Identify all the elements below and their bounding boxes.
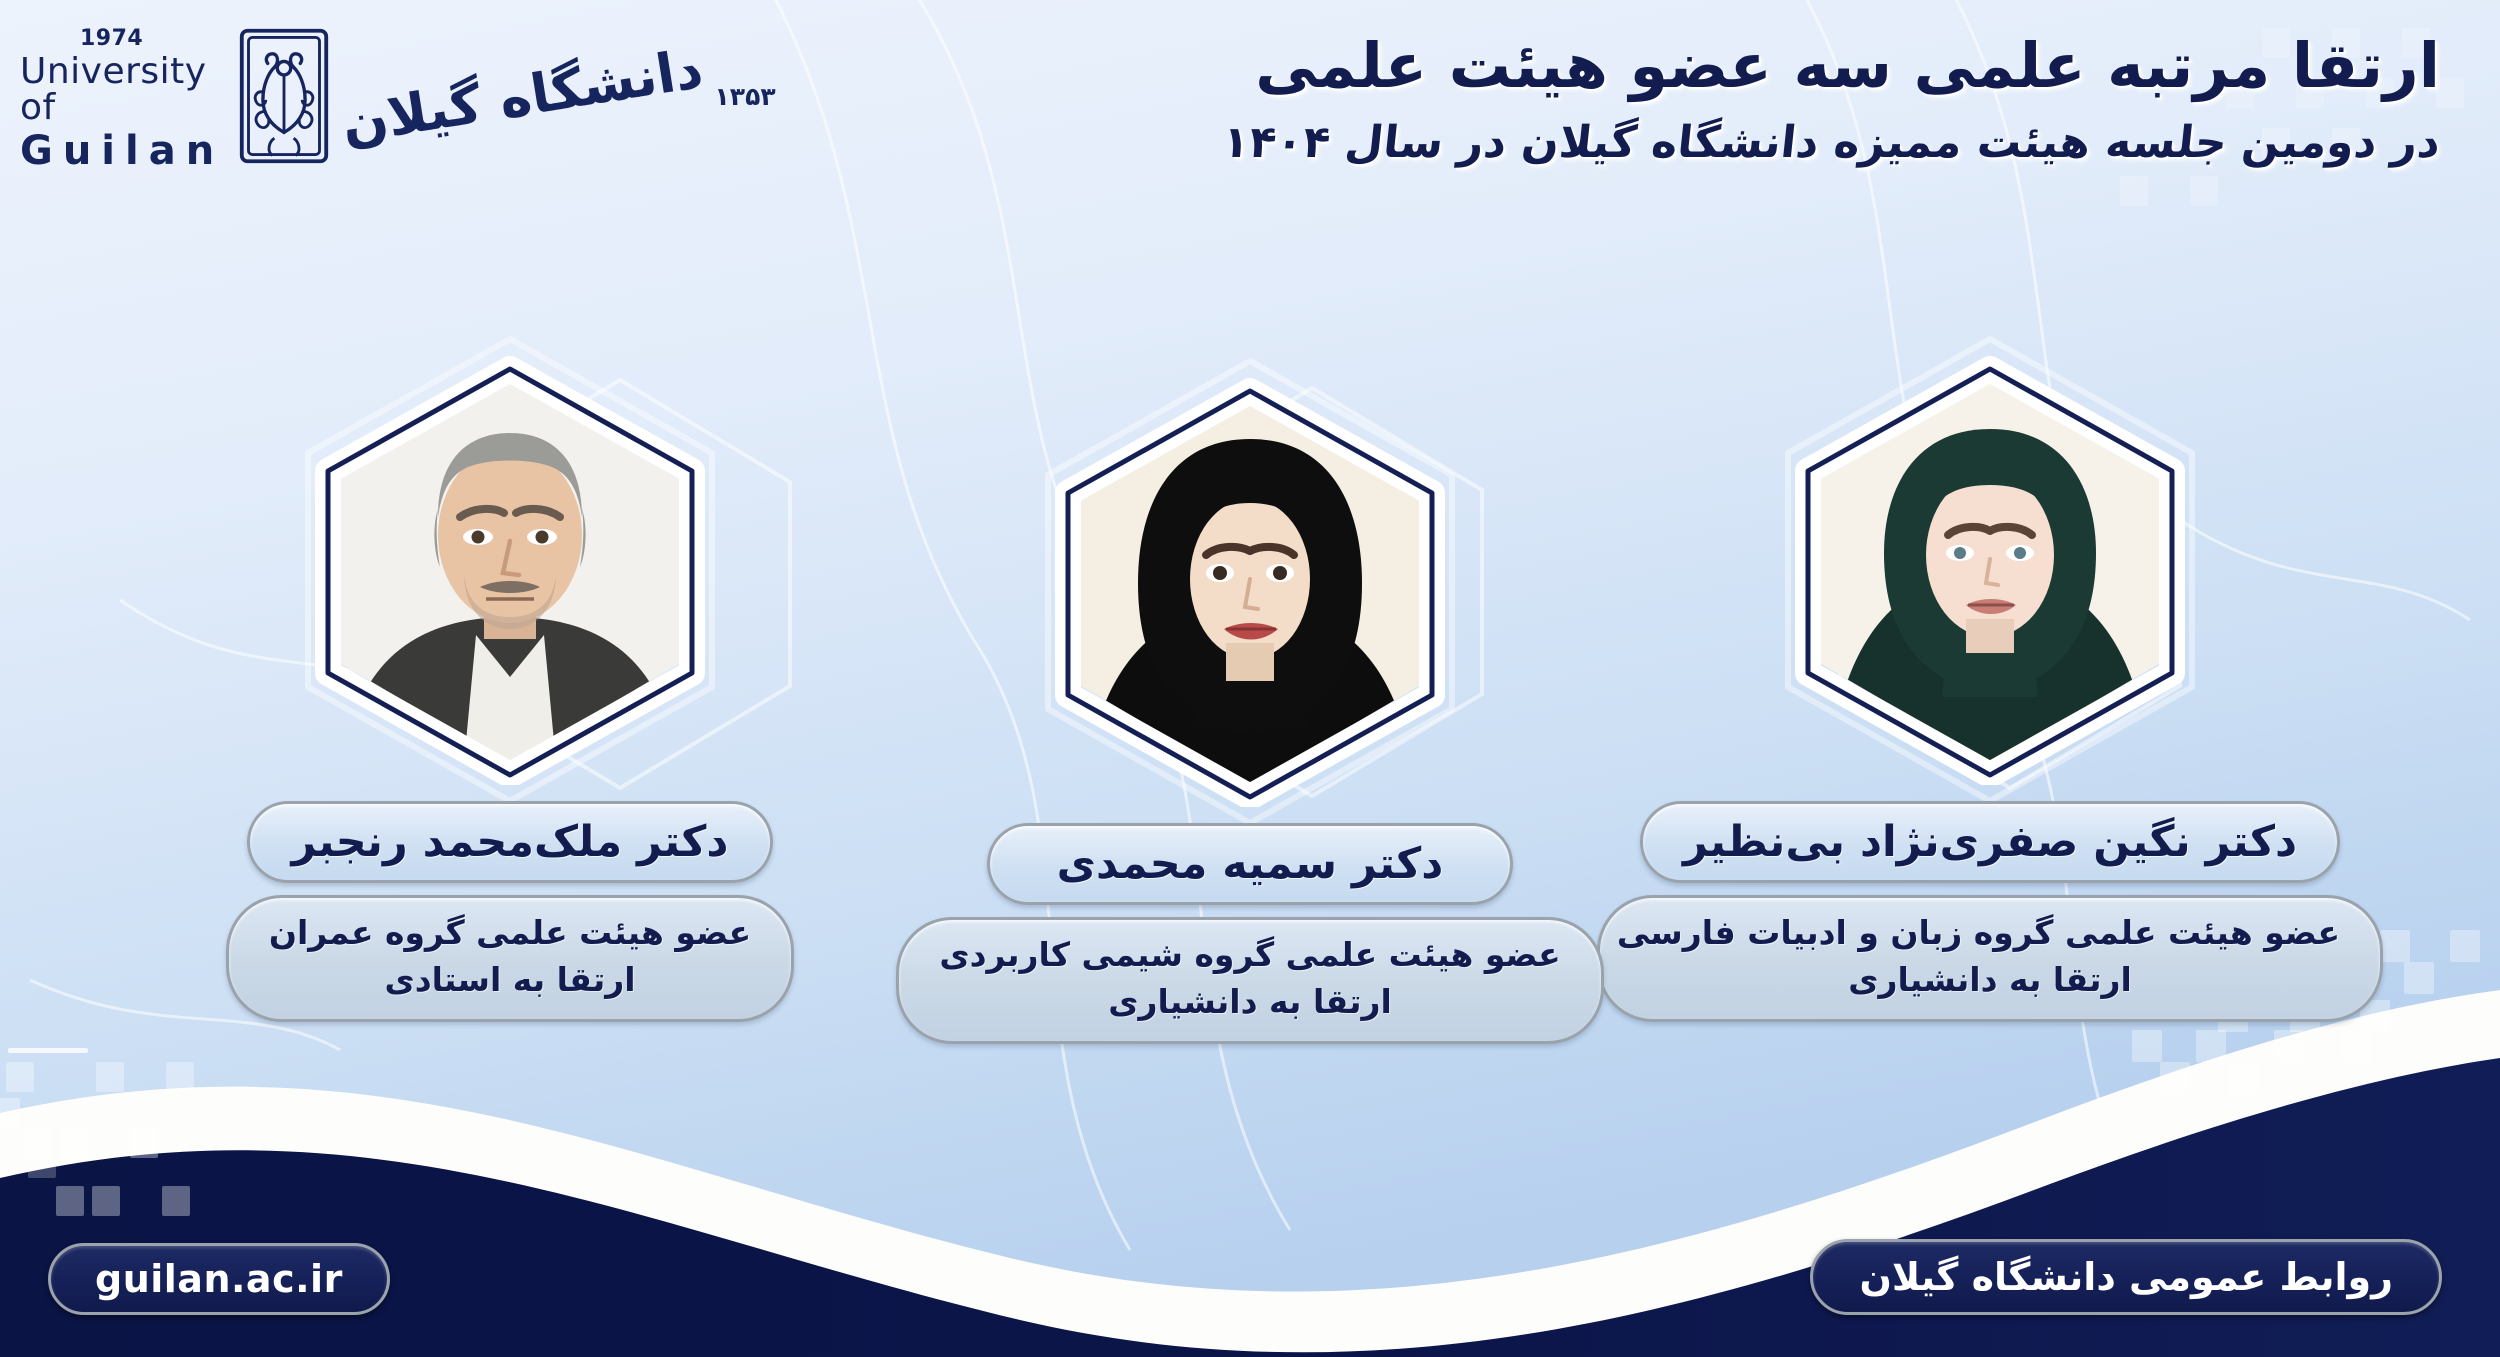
logo-english-text: 1974 University of Guilan [20, 22, 224, 171]
guilan-university-emblem-icon [236, 25, 332, 167]
faculty-name: دکتر ملک‌محمد رنجبر [292, 817, 729, 867]
faculty-list: دکتر نگین صفری‌نژاد بی‌نظیر عضو هیئت علم… [0, 355, 2500, 1055]
logo-university-name-fa: دانشگاه گیلان [338, 36, 708, 155]
faculty-card: دکتر سمیه محمدی عضو هیئت علمی گروه شیمی … [880, 377, 1620, 1044]
public-relations-label: روابط عمومی دانشگاه گیلان [1859, 1255, 2393, 1299]
poster-canvas: 1974 University of Guilan ۱۳۵۳ د [0, 0, 2500, 1357]
faculty-name-badge: دکتر نگین صفری‌نژاد بی‌نظیر [1640, 801, 2340, 883]
faculty-department: عضو هیئت علمی گروه عمران [269, 912, 751, 953]
website-url: guilan.ac.ir [95, 1257, 343, 1301]
faculty-promotion: ارتقا به دانشیاری [1640, 959, 2340, 1000]
faculty-promotion: ارتقا به دانشیاری [939, 981, 1560, 1022]
university-logo: 1974 University of Guilan ۱۳۵۳ د [20, 6, 760, 186]
hex-border-icon [1040, 377, 1460, 807]
headline-block: ارتقا مرتبه علمی سه عضو هیئت علمی در دوم… [1040, 30, 2440, 170]
faculty-role-badge: عضو هیئت علمی گروه عمران ارتقا به استادی [226, 895, 794, 1022]
faculty-name: دکتر سمیه محمدی [1057, 839, 1444, 889]
page-subtitle: در دومین جلسه هیئت ممیزه دانشگاه گیلان د… [1037, 117, 2443, 170]
public-relations-pill: روابط عمومی دانشگاه گیلان [1810, 1239, 2442, 1315]
page-title: ارتقا مرتبه علمی سه عضو هیئت علمی [1040, 30, 2440, 101]
photo-frame [1040, 377, 1460, 807]
photo-frame [300, 355, 720, 785]
faculty-name-badge: دکتر ملک‌محمد رنجبر [247, 801, 773, 883]
hex-border-icon [300, 355, 720, 785]
logo-persian-text: ۱۳۵۳ دانشگاه گیلان [340, 65, 775, 128]
faculty-department: عضو هیئت علمی گروه زبان و ادبیات فارسی [1640, 912, 2340, 953]
photo-frame [1780, 355, 2200, 785]
website-pill[interactable]: guilan.ac.ir [48, 1243, 390, 1315]
logo-founding-year-fa: ۱۳۵۳ [715, 82, 776, 111]
faculty-promotion: ارتقا به استادی [269, 959, 751, 1000]
faculty-name: دکتر نگین صفری‌نژاد بی‌نظیر [1683, 817, 2297, 867]
logo-guilan-word: Guilan [20, 131, 224, 171]
logo-founding-year-en: 1974 [80, 28, 143, 50]
faculty-role-badge: عضو هیئت علمی گروه شیمی کاربردی ارتقا به… [896, 917, 1603, 1044]
faculty-card: دکتر نگین صفری‌نژاد بی‌نظیر عضو هیئت علم… [1620, 355, 2360, 1022]
hex-border-icon [1780, 355, 2200, 785]
faculty-name-badge: دکتر سمیه محمدی [987, 823, 1513, 905]
faculty-card: دکتر ملک‌محمد رنجبر عضو هیئت علمی گروه ع… [140, 355, 880, 1022]
logo-university-word: University of [20, 54, 224, 126]
faculty-role-badge: عضو هیئت علمی گروه زبان و ادبیات فارسی ا… [1597, 895, 2383, 1022]
faculty-department: عضو هیئت علمی گروه شیمی کاربردی [939, 934, 1560, 975]
